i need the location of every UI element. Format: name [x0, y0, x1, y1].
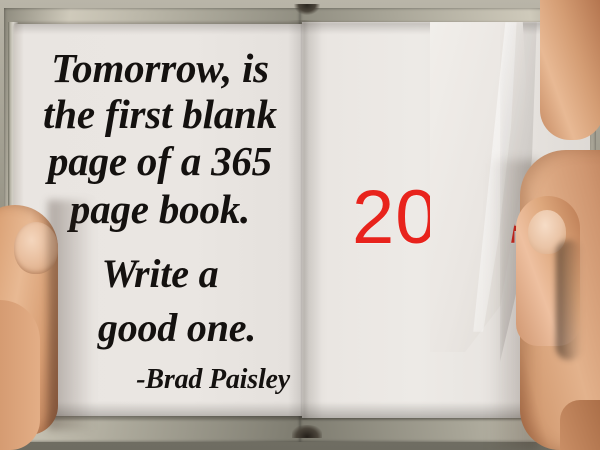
left-hand-palm: [0, 300, 40, 450]
right-hand-upper-finger: [540, 0, 600, 140]
quote-line-3: page of a 365: [14, 139, 306, 183]
quote-line-2: the first blank: [14, 92, 306, 136]
spine-notch-bottom: [292, 425, 322, 438]
left-thumb-shadow: [48, 200, 94, 430]
spine-notch-top: [294, 4, 320, 15]
right-hand-knuckle-shadow: [556, 240, 582, 360]
quote-line-1: Tomorrow, is: [14, 46, 306, 90]
book-quote-image: Tomorrow, is the first blank page of a 3…: [0, 0, 600, 450]
right-hand-lower-part: [560, 400, 600, 450]
